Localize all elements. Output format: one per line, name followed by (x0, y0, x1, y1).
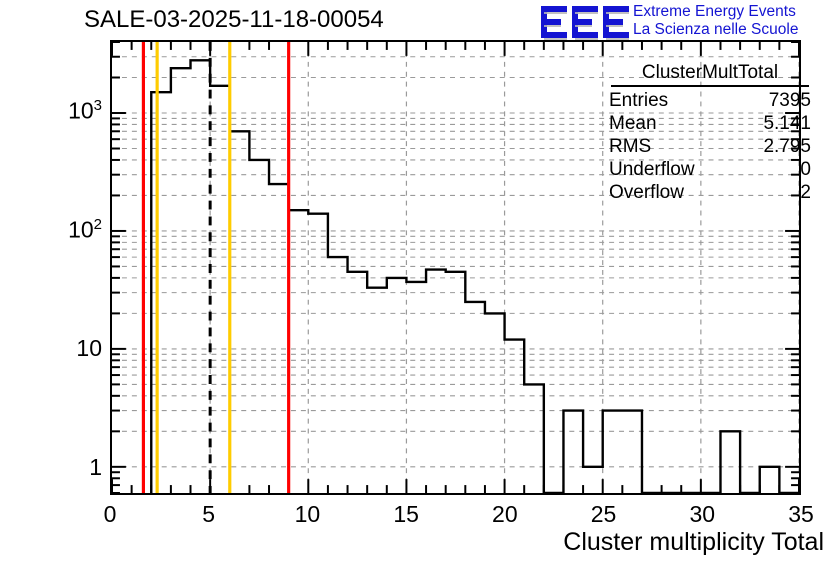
logo-line-1: Extreme Energy Events (633, 3, 798, 21)
stats-row: Entries7395 (603, 89, 817, 112)
stats-row: RMS2.795 (603, 135, 817, 158)
histogram-canvas: SALE-03-2025-11-18-00054 (0, 0, 836, 572)
stats-key: RMS (609, 135, 651, 158)
eee-logo-text: Extreme Energy Events La Scienza nelle S… (633, 3, 798, 39)
stats-key: Underflow (609, 158, 695, 181)
y-tick-label: 10 (76, 335, 102, 362)
x-tick-label: 20 (475, 501, 535, 528)
x-axis-title: Cluster multiplicity Total (563, 528, 824, 557)
stats-value: 0 (800, 158, 811, 181)
logo-line-2: La Scienza nelle Scuole (633, 21, 798, 39)
x-tick-label: 10 (277, 501, 337, 528)
stats-value: 2 (800, 181, 811, 204)
stats-title: ClusterMultTotal (611, 62, 809, 87)
stats-row: Underflow0 (603, 158, 817, 181)
stats-value: 5.141 (763, 112, 811, 135)
x-tick-label: 35 (771, 501, 831, 528)
x-tick-label: 5 (179, 501, 239, 528)
eee-logo: Extreme Energy Events La Scienza nelle S… (541, 2, 833, 42)
eee-logo-mark (541, 4, 629, 40)
stats-row: Overflow2 (603, 181, 817, 204)
stats-value: 7395 (769, 89, 811, 112)
stats-key: Entries (609, 89, 668, 112)
y-tick-label: 103 (68, 97, 102, 125)
page-title: SALE-03-2025-11-18-00054 (84, 6, 384, 34)
stats-key: Mean (609, 112, 657, 135)
x-tick-label: 15 (376, 501, 436, 528)
x-tick-label: 25 (574, 501, 634, 528)
stats-rows: Entries7395Mean5.141RMS2.795Underflow0Ov… (603, 89, 817, 204)
stats-row: Mean5.141 (603, 112, 817, 135)
stats-key: Overflow (609, 181, 684, 204)
stats-box: ClusterMultTotal Entries7395Mean5.141RMS… (603, 62, 817, 208)
x-tick-label: 30 (672, 501, 732, 528)
stats-value: 2.795 (763, 135, 811, 158)
x-tick-label: 0 (80, 501, 140, 528)
y-tick-label: 102 (68, 216, 102, 244)
y-tick-label: 1 (89, 454, 102, 481)
